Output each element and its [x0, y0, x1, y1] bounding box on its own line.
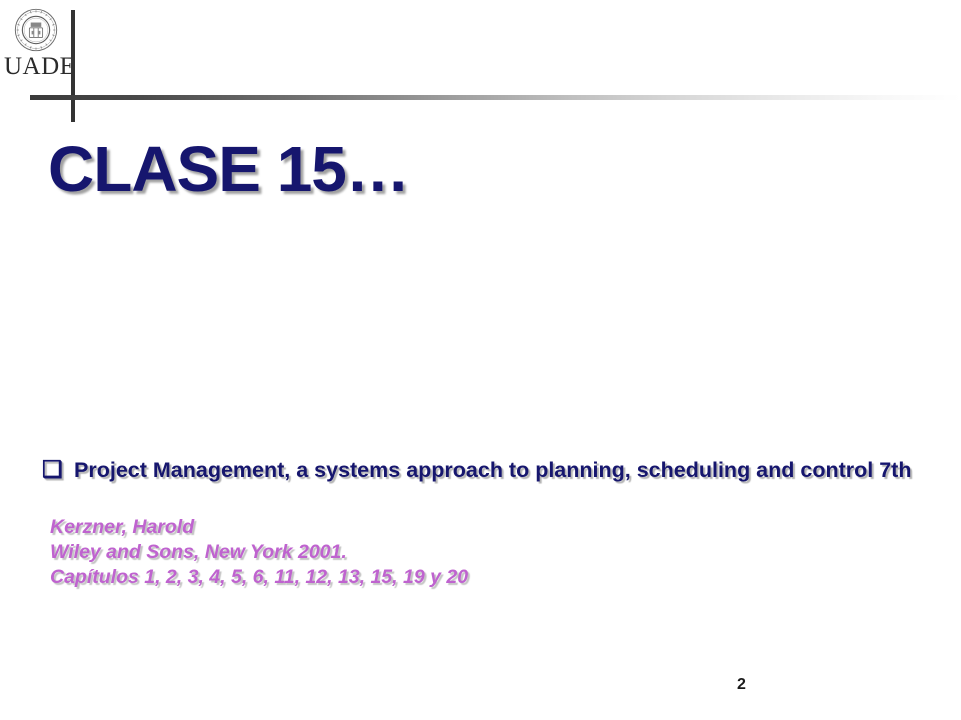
reference-publisher: Wiley and Sons, New York 2001. — [50, 540, 920, 565]
uade-seal-icon — [14, 8, 58, 52]
uade-logo: UADE — [4, 4, 72, 88]
slide-title: CLASE 15… — [48, 132, 409, 206]
uade-wordmark: UADE — [4, 54, 72, 79]
square-bullet-icon: ❑ — [42, 455, 74, 483]
reference-author: Kerzner, Harold — [50, 515, 920, 540]
bullet-list: ❑ Project Management, a systems approach… — [42, 455, 912, 485]
reference-block: Kerzner, Harold Wiley and Sons, New York… — [50, 515, 920, 590]
list-item: ❑ Project Management, a systems approach… — [42, 455, 912, 485]
bullet-item-text: Project Management, a systems approach t… — [74, 455, 912, 485]
page-number: 2 — [737, 676, 746, 694]
header-vertical-divider — [71, 10, 75, 122]
reference-chapters: Capítulos 1, 2, 3, 4, 5, 6, 11, 12, 13, … — [50, 565, 920, 590]
header-horizontal-divider — [30, 95, 961, 100]
presentation-slide: UADE CLASE 15… ❑ Project Management, a s… — [0, 0, 961, 720]
